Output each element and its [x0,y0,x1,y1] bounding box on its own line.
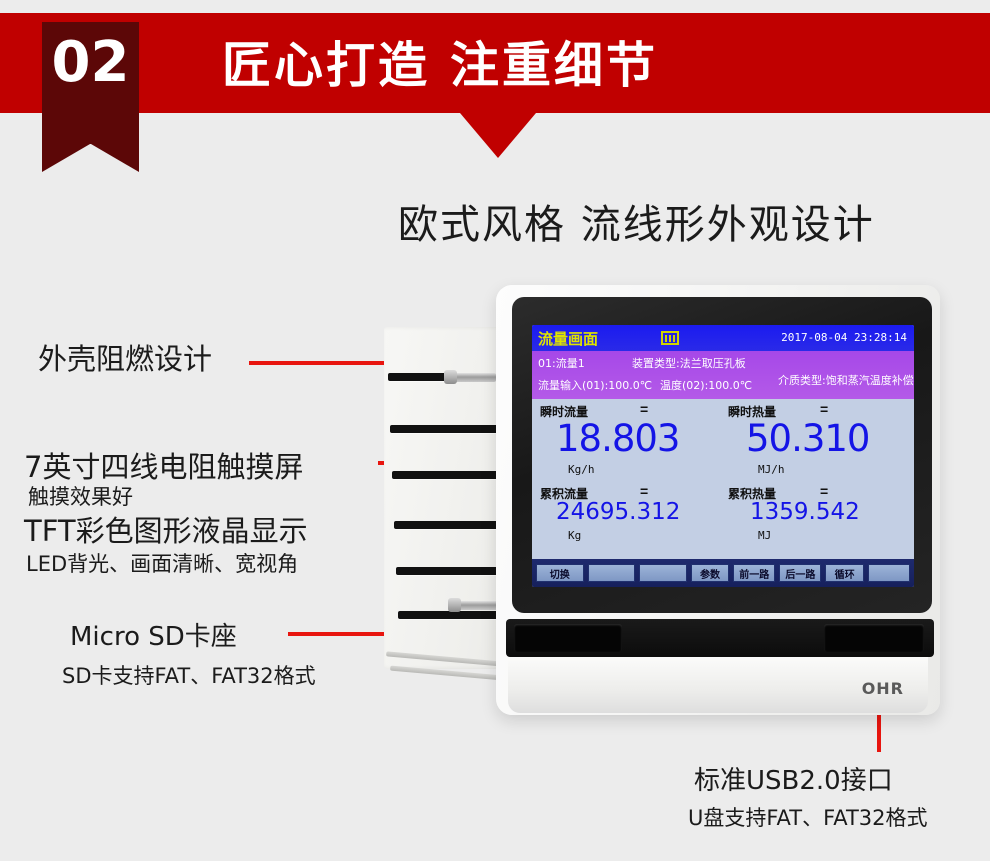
vent-slot [398,611,498,619]
readout-equals: = [820,401,828,417]
lcd-button-blank-1[interactable] [588,564,636,582]
readout-unit: Kg/h [568,463,595,476]
readout-unit: MJ [758,529,771,542]
lcd-button-cycle[interactable]: 循环 [825,564,863,582]
info-channel: 01:流量1 [538,355,585,371]
annotation-shell-label: 外壳阻燃设计 [38,336,212,378]
brand-logo: OHR [862,679,904,698]
usb-port-slot[interactable] [824,624,924,652]
lcd-button-next[interactable]: 后一路 [779,564,821,582]
lcd-button-bar: 切换 参数 前一路 后一路 循环 [532,559,914,587]
annotation-sd-card-label: Micro SD卡座 [70,616,237,653]
chart-icon[interactable] [661,331,679,345]
annotation-touchscreen-sub: 触摸效果好 [28,481,133,511]
readout-value: 24695.312 [556,499,680,525]
info-flow-input: 流量输入(01):100.0℃ [538,377,652,393]
vent-slot [392,471,502,479]
info-medium-type: 介质类型:饱和蒸汽温度补偿 [778,372,914,388]
lcd-button-blank-3[interactable] [868,564,910,582]
sd-card-slot[interactable] [514,624,622,652]
info-device-type: 装置类型:法兰取压孔板 [632,355,746,371]
section-badge-notch [42,144,139,172]
vent-slot [396,567,500,575]
device-lower-panel: OHR [508,657,928,713]
readout-value: 50.310 [746,417,869,460]
header-arrow [460,113,536,158]
lcd-button-params[interactable]: 参数 [691,564,729,582]
section-number: 02 [42,30,139,95]
device-illustration: 流量画面 2017-08-04 23:28:14 01:流量1 装置类型:法兰取… [380,285,940,735]
mounting-screw-top [452,373,496,382]
lcd-button-blank-2[interactable] [639,564,687,582]
annotation-touchscreen-label: 7英寸四线电阻触摸屏 [24,444,303,486]
lcd-timestamp: 2017-08-04 23:28:14 [781,331,907,344]
lcd-title-bar: 流量画面 2017-08-04 23:28:14 [532,325,914,351]
annotation-display-sub: LED背光、画面清晰、宽视角 [26,548,298,578]
product-feature-page: 02 匠心打造 注重细节 欧式风格 流线形外观设计 外壳阻燃设计 7英寸四线电阻… [0,0,990,861]
lcd-screen[interactable]: 流量画面 2017-08-04 23:28:14 01:流量1 装置类型:法兰取… [532,325,914,587]
vent-slot [394,521,502,529]
screw-head-top [444,370,457,384]
vent-slot [390,425,502,433]
header-title: 匠心打造 注重细节 [222,26,658,97]
mounting-screw-bottom [456,601,500,610]
page-subtitle: 欧式风格 流线形外观设计 [398,192,875,250]
screw-head-bottom [448,598,461,612]
readout-unit: MJ/h [758,463,785,476]
annotation-sd-card-sub: SD卡支持FAT、FAT32格式 [62,660,316,690]
readout-unit: Kg [568,529,581,542]
lcd-button-switch[interactable]: 切换 [536,564,584,582]
annotation-usb-label: 标准USB2.0接口 [694,760,893,797]
readout-equals: = [640,483,648,499]
readout-value: 1359.542 [750,499,860,525]
readout-value: 18.803 [556,417,679,460]
info-temperature: 温度(02):100.0℃ [660,377,752,393]
lcd-readout-area: 瞬时流量 = 18.803 Kg/h 瞬时热量 = 50.310 MJ/h 累积… [532,399,914,559]
lcd-info-band: 01:流量1 装置类型:法兰取压孔板 介质类型:饱和蒸汽温度补偿 流量输入(01… [532,351,914,399]
readout-equals: = [640,401,648,417]
annotation-usb-sub: U盘支持FAT、FAT32格式 [688,802,928,832]
annotation-display-label: TFT彩色图形液晶显示 [24,508,308,550]
lcd-screen-title: 流量画面 [538,328,598,349]
device-port-strip [506,619,934,657]
lcd-button-prev[interactable]: 前一路 [733,564,775,582]
readout-equals: = [820,483,828,499]
